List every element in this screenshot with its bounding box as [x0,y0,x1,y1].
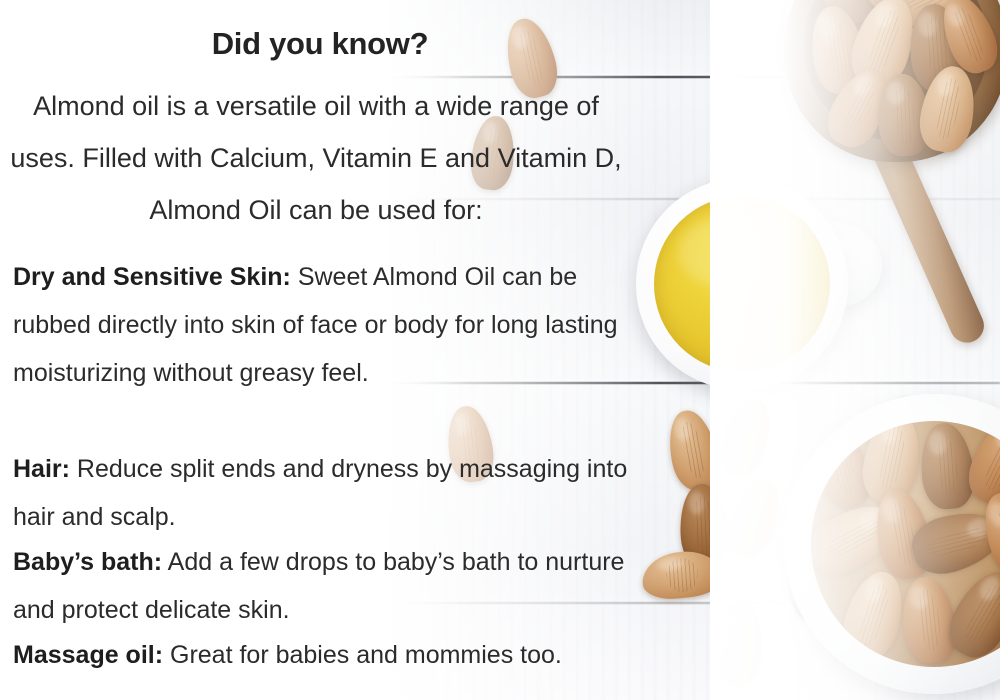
use-label: Massage oil: [13,641,163,669]
intro-paragraph: Almond oil is a versatile oil with a wid… [0,80,632,236]
use-item-babys-bath: Baby’s bath: Add a few drops to baby’s b… [13,538,633,634]
use-label: Baby’s bath: [13,548,162,576]
use-item-hair: Hair: Reduce split ends and dryness by m… [13,445,633,541]
page-title: Did you know? [0,26,640,62]
almond-oil-surface [654,196,830,372]
oil-pitcher [636,178,886,410]
use-label: Dry and Sensitive Skin: [13,263,291,291]
use-text: Great for babies and mommies too. [163,641,562,669]
text-column: Did you know? Almond oil is a versatile … [0,0,640,700]
almond-bowl [784,394,1000,694]
infographic-canvas: Did you know? Almond oil is a versatile … [0,0,1000,700]
use-label: Hair: [13,455,70,483]
use-item-dry-and-sensitive-skin: Dry and Sensitive Skin: Sweet Almond Oil… [13,253,633,397]
use-item-massage-oil: Massage oil: Great for babies and mommie… [13,631,633,679]
use-text: Reduce split ends and dryness by massagi… [13,455,627,531]
almond [917,421,978,511]
